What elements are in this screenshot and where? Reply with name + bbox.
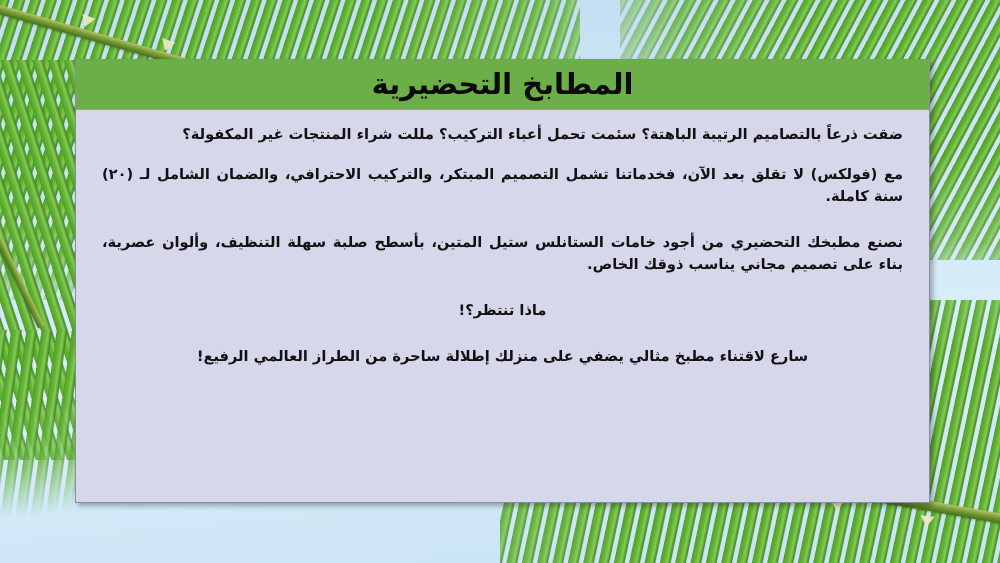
- paragraph-call-to-action: سارع لاقتناء مطبخ مثالي يضفي على منزلك إ…: [102, 346, 903, 369]
- slide-canvas: المطابخ التحضيرية ضقت ذرعاً بالتصاميم ال…: [0, 0, 1000, 563]
- page-title: المطابخ التحضيرية: [372, 70, 634, 99]
- body-text-container: ضقت ذرعاً بالتصاميم الرتيبة الباهتة؟ سئم…: [76, 110, 929, 504]
- paragraph-call-question: ماذا تنتظر؟!: [102, 300, 903, 323]
- content-card: المطابخ التحضيرية ضقت ذرعاً بالتصاميم ال…: [75, 59, 930, 503]
- frond-thorn: [919, 515, 934, 527]
- title-banner: المطابخ التحضيرية: [76, 60, 929, 110]
- paragraph-pain-points: ضقت ذرعاً بالتصاميم الرتيبة الباهتة؟ سئم…: [102, 124, 903, 147]
- paragraph-brand-promise: مع (فولكس) لا تقلق بعد الآن، فخدماتنا تش…: [102, 164, 903, 209]
- paragraph-materials: نصنع مطبخك التحضيري من أجود خامات الستان…: [102, 232, 903, 277]
